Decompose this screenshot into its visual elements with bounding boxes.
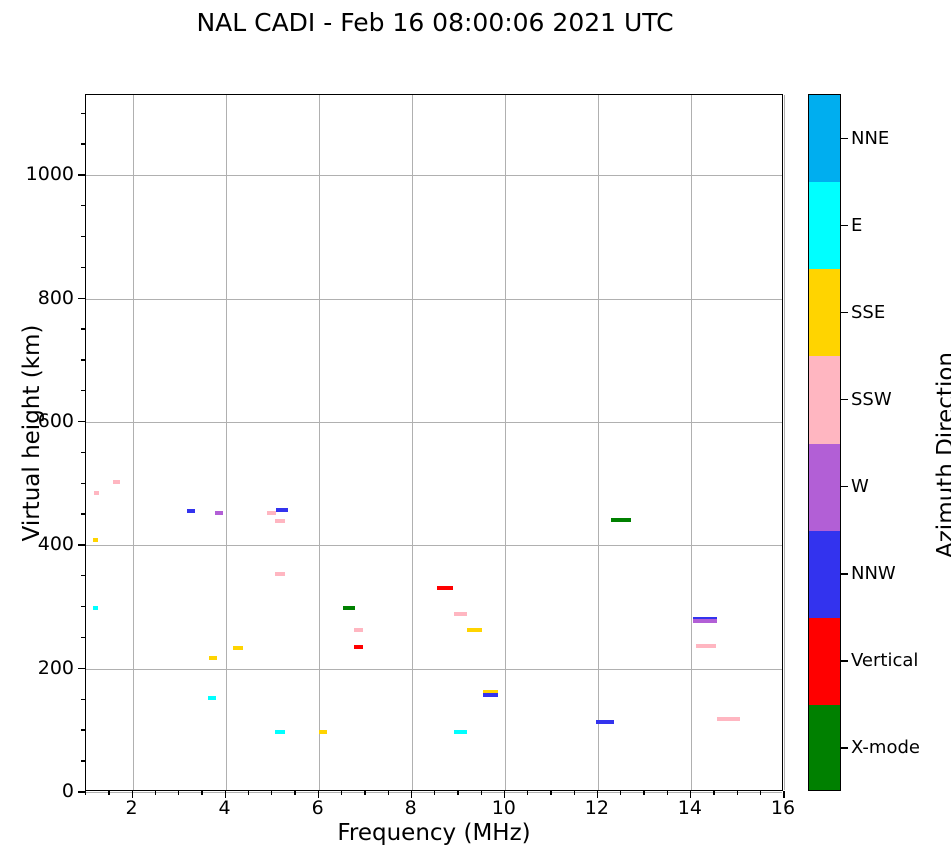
x-tick-minor — [713, 791, 714, 795]
x-tick-minor — [457, 791, 458, 795]
colorbar-tick — [841, 747, 848, 748]
y-tick-minor — [81, 236, 85, 237]
y-tick-mark — [78, 668, 85, 670]
echo-segment-w — [215, 511, 223, 515]
echo-segment-x-mode — [343, 606, 355, 610]
x-tick-minor — [85, 791, 86, 795]
gridline-horizontal — [86, 422, 782, 423]
x-tick-minor — [434, 791, 435, 795]
y-tick-minor — [81, 452, 85, 453]
y-tick-minor — [81, 205, 85, 206]
y-tick-minor — [81, 390, 85, 391]
x-tick-label: 4 — [195, 797, 255, 819]
gridline-vertical — [784, 95, 785, 790]
echo-segment-sse — [233, 646, 244, 650]
colorbar-segment-vertical[interactable] — [809, 618, 840, 705]
x-tick-minor — [178, 791, 179, 795]
x-tick-minor — [760, 791, 761, 795]
x-tick-minor — [248, 791, 249, 795]
y-tick-mark — [78, 421, 85, 423]
x-tick-minor — [271, 791, 272, 795]
x-tick-label: 14 — [660, 797, 720, 819]
y-tick-minor — [81, 575, 85, 576]
y-tick-mark — [78, 174, 85, 176]
x-tick-minor — [550, 791, 551, 795]
y-tick-minor — [81, 760, 85, 761]
y-tick-minor — [81, 729, 85, 730]
colorbar-label-x-mode: X-mode — [851, 737, 920, 758]
echo-segment-nnw — [187, 509, 195, 513]
colorbar-label-nnw: NNW — [851, 563, 896, 584]
echo-segment-sse — [467, 628, 483, 632]
x-tick-minor — [737, 791, 738, 795]
page-title: NAL CADI - Feb 16 08:00:06 2021 UTC — [0, 8, 870, 37]
echo-segment-ssw — [354, 628, 363, 632]
gridline-vertical — [133, 95, 134, 790]
y-tick-minor — [81, 637, 85, 638]
colorbar-label-nne: NNE — [851, 128, 889, 149]
colorbar-tick — [841, 312, 848, 313]
colorbar-label-e: E — [851, 215, 862, 236]
y-tick-minor — [81, 267, 85, 268]
colorbar-tick — [841, 138, 848, 139]
x-tick-minor — [643, 791, 644, 795]
x-tick-label: 12 — [567, 797, 627, 819]
colorbar-segment-w[interactable] — [809, 444, 840, 531]
x-tick-label: 8 — [381, 797, 441, 819]
y-tick-mark — [78, 544, 85, 546]
gridline-vertical — [226, 95, 227, 790]
x-tick-minor — [620, 791, 621, 795]
y-tick-minor — [81, 606, 85, 607]
colorbar-segment-nnw[interactable] — [809, 531, 840, 618]
echo-segment-w — [693, 619, 716, 623]
y-tick-minor — [81, 359, 85, 360]
x-tick-label: 2 — [102, 797, 162, 819]
echo-segment-ssw — [275, 572, 286, 576]
x-tick-minor — [388, 791, 389, 795]
y-tick-minor — [81, 699, 85, 700]
echo-segment-nnw — [276, 508, 289, 512]
y-tick-label: 0 — [14, 780, 74, 802]
colorbar-title: Azimuth Direction — [933, 105, 951, 805]
y-axis-label: Virtual height (km) — [19, 113, 45, 753]
echo-segment-ssw — [275, 519, 286, 523]
x-tick-minor — [527, 791, 528, 795]
colorbar-tick — [841, 486, 848, 487]
echo-segment-nnw — [596, 720, 615, 724]
ionogram-figure: NAL CADI - Feb 16 08:00:06 2021 UTC 0200… — [0, 0, 951, 856]
azimuth-colorbar[interactable] — [808, 94, 841, 791]
echo-segment-ssw — [717, 717, 740, 721]
colorbar-label-vertical: Vertical — [851, 650, 918, 671]
gridline-vertical — [505, 95, 506, 790]
y-tick-minor — [81, 513, 85, 514]
x-tick-label: 10 — [474, 797, 534, 819]
x-tick-minor — [574, 791, 575, 795]
gridline-vertical — [691, 95, 692, 790]
colorbar-segment-x-mode[interactable] — [809, 705, 840, 791]
echo-segment-e — [93, 606, 98, 610]
echo-segment-e — [275, 730, 286, 734]
y-tick-minor — [81, 328, 85, 329]
echo-segment-nnw — [483, 693, 498, 697]
plot-area — [85, 94, 783, 791]
x-tick-minor — [294, 791, 295, 795]
echo-segment-ssw — [696, 644, 717, 648]
y-tick-minor — [81, 113, 85, 114]
x-tick-minor — [667, 791, 668, 795]
colorbar-segment-nne[interactable] — [809, 95, 840, 182]
colorbar-label-sse: SSE — [851, 302, 885, 323]
colorbar-tick — [841, 660, 848, 661]
x-tick-minor — [364, 791, 365, 795]
colorbar-tick — [841, 573, 848, 574]
x-tick-minor — [341, 791, 342, 795]
y-tick-minor — [81, 483, 85, 484]
echo-segment-sse — [319, 730, 327, 734]
colorbar-segment-ssw[interactable] — [809, 356, 840, 443]
echo-segment-vertical — [437, 586, 452, 590]
y-tick-mark — [78, 791, 85, 793]
y-tick-mark — [78, 298, 85, 300]
x-tick-label: 6 — [288, 797, 348, 819]
echo-segment-sse — [209, 656, 217, 660]
echo-segment-ssw — [113, 480, 120, 484]
x-tick-label: 16 — [753, 797, 813, 819]
gridline-vertical — [319, 95, 320, 790]
colorbar-tick — [841, 399, 848, 400]
x-axis-label: Frequency (MHz) — [85, 820, 783, 846]
x-tick-minor — [108, 791, 109, 795]
echo-segment-e — [454, 730, 467, 734]
echo-segment-x-mode — [611, 518, 632, 522]
colorbar-tick — [841, 225, 848, 226]
gridline-vertical — [412, 95, 413, 790]
colorbar-segment-e[interactable] — [809, 182, 840, 269]
colorbar-segment-sse[interactable] — [809, 269, 840, 356]
y-tick-minor — [81, 143, 85, 144]
gridline-horizontal — [86, 669, 782, 670]
x-tick-minor — [155, 791, 156, 795]
echo-segment-vertical — [354, 645, 363, 649]
echo-segment-ssw — [267, 511, 276, 515]
echo-segment-ssw — [94, 491, 99, 495]
echo-segment-sse — [93, 538, 98, 542]
gridline-horizontal — [86, 545, 782, 546]
x-tick-minor — [481, 791, 482, 795]
gridline-horizontal — [86, 299, 782, 300]
gridline-horizontal — [86, 175, 782, 176]
x-tick-minor — [201, 791, 202, 795]
echo-segment-e — [208, 696, 216, 700]
colorbar-label-ssw: SSW — [851, 389, 892, 410]
gridline-vertical — [598, 95, 599, 790]
colorbar-label-w: W — [851, 476, 869, 497]
echo-segment-ssw — [454, 612, 467, 616]
